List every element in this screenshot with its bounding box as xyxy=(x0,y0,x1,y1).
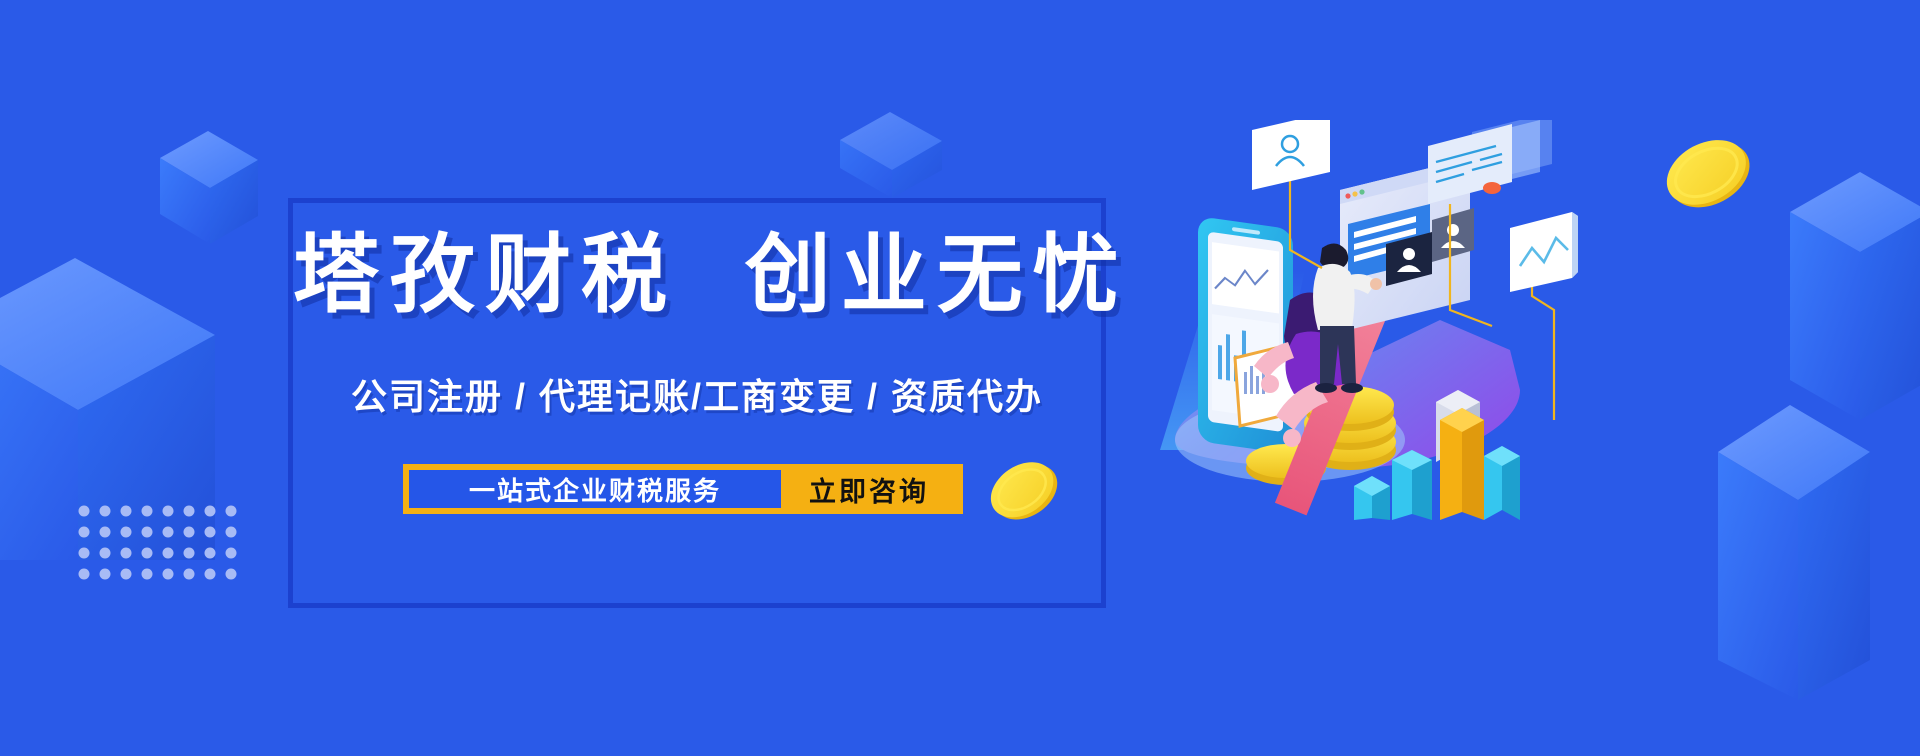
page-title: 塔孜财税 创业无忧 xyxy=(293,225,1101,326)
consult-now-button[interactable]: 立即咨询 xyxy=(781,470,957,508)
profile-card xyxy=(1252,120,1330,190)
service-list: 公司注册 / 代理记账/工商变更 / 资质代办 xyxy=(293,368,1101,420)
cta-bar: 一站式企业财税服务 立即咨询 xyxy=(403,464,963,514)
business-illustration xyxy=(1140,120,1600,520)
hero-text-frame: 塔孜财税 创业无忧 公司注册 / 代理记账/工商变更 / 资质代办 一站式企业财… xyxy=(288,198,1106,608)
cube-left-small xyxy=(160,131,258,244)
cube-right-tall xyxy=(1790,172,1920,420)
coin-top-right xyxy=(1656,126,1761,221)
cta-tagline: 一站式企业财税服务 xyxy=(409,470,781,508)
promo-banner: 塔孜财税 创业无忧 公司注册 / 代理记账/工商变更 / 资质代办 一站式企业财… xyxy=(0,0,1920,756)
dot-grid-decoration xyxy=(78,505,258,595)
cube-top-center xyxy=(840,112,942,198)
line-chart-card xyxy=(1510,212,1578,292)
credit-card xyxy=(1428,120,1552,204)
cube-right-lower xyxy=(1718,405,1870,700)
